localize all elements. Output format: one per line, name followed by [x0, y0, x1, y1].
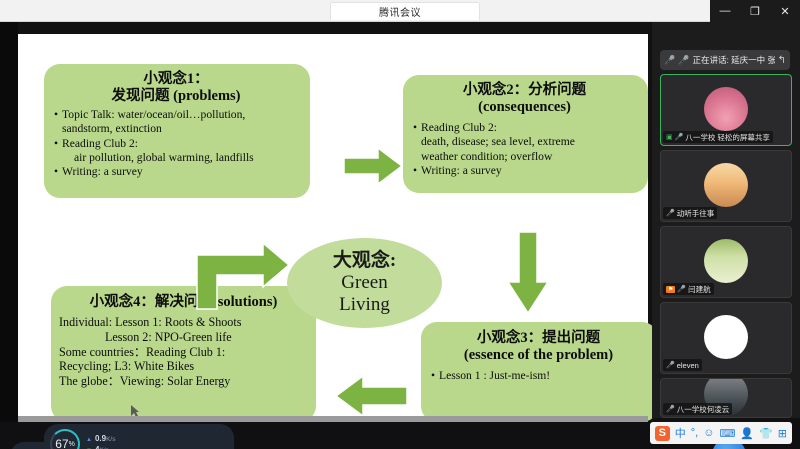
concept-box-3-title-line1: 小观念3：提出问题 [427, 330, 650, 347]
cpu-usage-ring: 67% [50, 429, 80, 449]
mic-red-icon: 🎤 [664, 55, 675, 66]
participant-name: 八一学校 轻松的屏幕共享 [685, 132, 770, 143]
cpu-usage-unit: % [69, 441, 75, 448]
emoji-icon[interactable]: ☺ [703, 427, 714, 439]
mic-muted-icon: 🎤 [666, 209, 675, 217]
concept-box-4-line: Lesson 2: NPO-Green life [59, 330, 308, 345]
participant-tile[interactable]: 🎤 八一学校何凌云 [660, 378, 792, 418]
concept-box-1-bullet: Writing: a survey [62, 165, 302, 179]
window-title-bar: 腾讯会议 [0, 0, 800, 22]
bullet-dot: • [50, 108, 62, 122]
minimize-button[interactable]: — [710, 0, 740, 22]
arrow-down-icon [505, 230, 551, 316]
sogou-logo-icon[interactable]: S [655, 426, 670, 441]
concept-box-1-bullet: air pollution, global warming, landfills [62, 151, 302, 165]
concept-box-1-title-line1: 小观念1： [50, 71, 302, 88]
concept-box-3-title-line2: (essence of the problem) [427, 347, 650, 364]
concept-box-2-bullet: death, disease; sea level, extreme [421, 135, 640, 149]
big-idea-ellipse: 大观念: Green Living [287, 238, 442, 328]
bullet-spacer [50, 151, 62, 165]
maximize-button[interactable]: ❐ [740, 0, 770, 22]
collapse-rail-icon[interactable]: ↰ [778, 55, 786, 66]
concept-box-1-bullet: Reading Club 2: [62, 137, 302, 151]
concept-box-1-bullet: Topic Talk: water/ocean/oil…pollution, [62, 108, 302, 122]
concept-box-2: 小观念2：分析问题 (consequences) •Reading Club 2… [403, 75, 648, 193]
mic-muted-icon: 🎤 [666, 405, 675, 413]
arrow-left-icon [333, 372, 409, 420]
concept-box-2-bullet: Reading Club 2: [421, 121, 640, 135]
participant-tile[interactable]: ▣ 🎤 八一学校 轻松的屏幕共享 [660, 74, 792, 146]
mic-muted-icon: 🎤 [675, 133, 684, 141]
bullet-dot: • [427, 369, 439, 383]
avatar [704, 87, 748, 131]
concept-box-4-line: The globe：Viewing: Solar Energy [59, 374, 308, 389]
participant-name-badge: 🎤 eleven [663, 359, 702, 371]
participant-name: 闫建航 [688, 284, 711, 295]
bullet-dot: • [50, 165, 62, 179]
concept-box-3-bullet: Lesson 1 : Just-me-ism! [439, 369, 650, 383]
host-badge-icon: ⚑ [666, 286, 675, 293]
avatar [704, 239, 748, 283]
cpu-usage-value: 67 [55, 437, 68, 449]
close-button[interactable]: ✕ [770, 0, 800, 22]
avatar [704, 315, 748, 359]
concept-box-1-bullet: sandstorm, extinction [62, 122, 302, 136]
big-idea-line3: Living [339, 294, 390, 316]
concept-box-2-title-line2: (consequences) [409, 99, 640, 116]
bullet-dot: • [50, 137, 62, 151]
concept-box-2-bullet: Writing: a survey [421, 164, 640, 178]
arrow-right-icon [342, 144, 404, 188]
punctuation-icon[interactable]: °, [691, 427, 698, 439]
bullet-spacer [409, 150, 421, 164]
shared-slide-canvas: 小观念1： 发现问题 (problems) •Topic Talk: water… [18, 34, 648, 416]
user-icon[interactable]: 👤 [740, 427, 754, 440]
network-speed-widget[interactable]: 67% 0.9K/s 4K/s [44, 424, 234, 449]
participant-tile[interactable]: 🎤 动听手往事 [660, 150, 792, 222]
concept-box-1-title-line2: 发现问题 (problems) [50, 88, 302, 105]
input-mode-icon[interactable]: 中 [675, 425, 686, 441]
participant-name-badge: 🎤 八一学校何凌云 [663, 403, 732, 415]
bullet-spacer [50, 122, 62, 136]
participant-name: 八一学校何凌云 [677, 404, 730, 415]
mic-muted-icon: 🎤 [677, 285, 686, 293]
participant-tile[interactable]: 🎤 eleven [660, 302, 792, 374]
upload-speed: 0.9 [95, 434, 106, 443]
bullet-dot: • [409, 164, 421, 178]
screen-root: 腾讯会议 — ❐ ✕ 小观念1： 发现问题 (problems) •Topic … [0, 0, 800, 449]
concept-box-3: 小观念3：提出问题 (essence of the problem) •Less… [421, 322, 658, 422]
mic-muted-icon: 🎤 [666, 361, 675, 369]
upload-unit: K/s [106, 436, 115, 443]
network-speeds: 0.9K/s 4K/s [86, 434, 115, 449]
participant-name-badge: 🎤 动听手往事 [663, 207, 717, 219]
screen-share-icon: ▣ [666, 133, 673, 141]
left-gutter [0, 22, 18, 422]
concept-box-4-line: Recycling; L3: White Bikes [59, 359, 308, 374]
concept-box-2-bullet: weather condition; overflow [421, 150, 640, 164]
concept-box-1: 小观念1： 发现问题 (problems) •Topic Talk: water… [44, 64, 310, 198]
bullet-dot: • [409, 121, 421, 135]
big-idea-line1: 大观念: [333, 250, 396, 272]
window-controls: — ❐ ✕ [710, 0, 800, 22]
avatar [704, 163, 748, 207]
skin-icon[interactable]: 👕 [759, 427, 773, 440]
sogou-ime-toolbar: S 中 °, ☺ ⌨ 👤 👕 ⊞ [650, 422, 792, 444]
bullet-spacer [409, 135, 421, 149]
mic-red-icon: 🎤 [678, 55, 689, 66]
participant-name: eleven [677, 361, 699, 370]
concept-box-4-line: Individual: Lesson 1: Roots & Shoots [59, 315, 308, 330]
participant-name-badge: ⚑ 🎤 闫建航 [663, 283, 714, 295]
arrow-elbow-up-right-icon [193, 239, 293, 311]
app-title: 腾讯会议 [0, 4, 800, 19]
toolbox-icon[interactable]: ⊞ [778, 427, 787, 440]
participant-name-badge: ▣ 🎤 八一学校 轻松的屏幕共享 [663, 131, 773, 143]
keyboard-icon[interactable]: ⌨ [719, 427, 735, 440]
big-idea-line2: Green [341, 272, 387, 294]
participant-tile[interactable]: ⚑ 🎤 闫建航 [660, 226, 792, 298]
participant-name: 动听手往事 [677, 208, 715, 219]
active-speaker-label: 正在讲话: 延庆一中 张瑞统 [692, 54, 774, 66]
concept-box-4-line: Some countries：Reading Club 1: [59, 345, 308, 360]
active-speaker-bar: 🎤 🎤 正在讲话: 延庆一中 张瑞统 ↰ [660, 50, 790, 70]
concept-box-2-title-line1: 小观念2：分析问题 [409, 82, 640, 99]
